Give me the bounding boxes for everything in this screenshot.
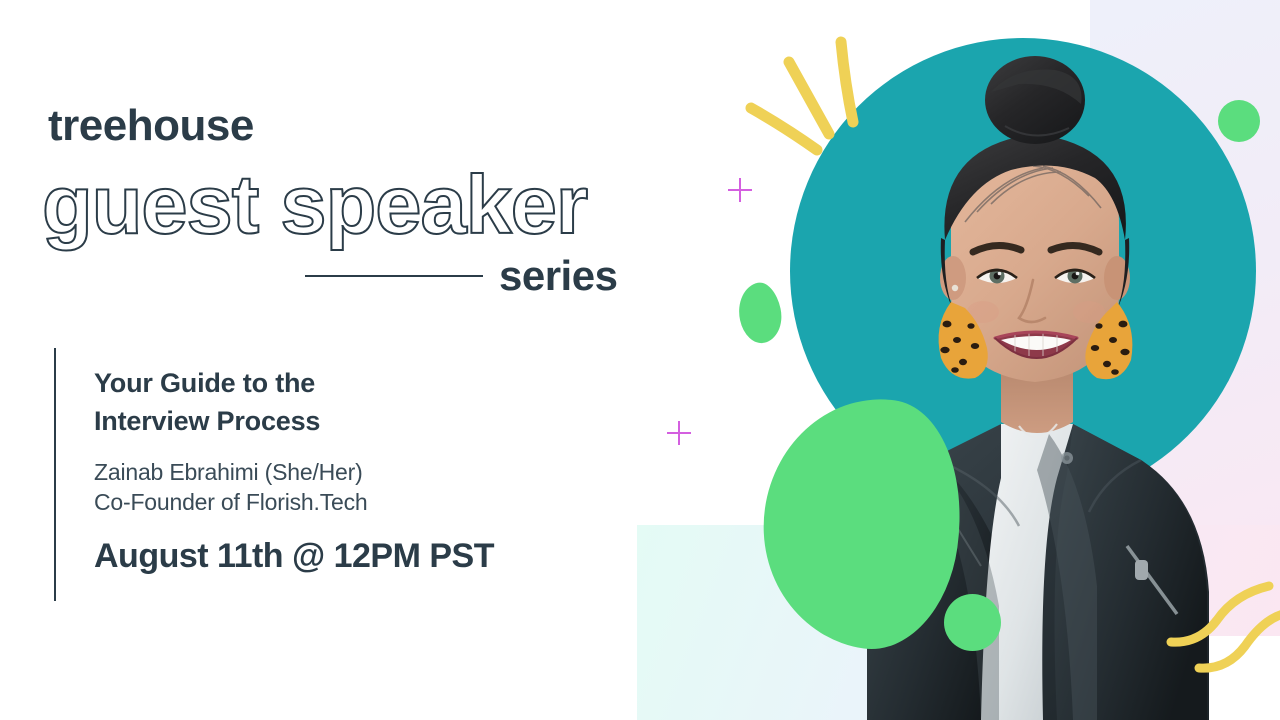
brand-wordmark: treehouse — [48, 104, 254, 148]
text-content-column: treehouse guest speaker series Your Guid… — [0, 0, 660, 720]
headline-outline-text: guest speaker — [42, 163, 587, 246]
speaker-role: Co-Founder of Florish.Tech — [94, 487, 494, 517]
talk-info-block: Your Guide to the Interview Process Zain… — [54, 348, 494, 601]
magenta-plus-icon-top — [728, 178, 752, 202]
green-blob-small-shape — [733, 279, 787, 346]
yellow-sparkle-icon — [745, 30, 905, 190]
event-datetime: August 11th @ 12PM PST — [94, 539, 494, 573]
talk-title: Your Guide to the Interview Process — [94, 364, 494, 441]
green-circle-shape-bottom — [944, 594, 1001, 651]
series-row: series — [305, 255, 617, 297]
yellow-squiggle-icon — [1165, 570, 1280, 680]
magenta-plus-icon-middle — [667, 421, 691, 445]
series-label: series — [499, 255, 617, 297]
speaker-name: Zainab Ebrahimi (She/Her) — [94, 457, 494, 487]
slide-canvas: treehouse guest speaker series Your Guid… — [0, 0, 1280, 720]
series-rule-divider — [305, 275, 483, 277]
